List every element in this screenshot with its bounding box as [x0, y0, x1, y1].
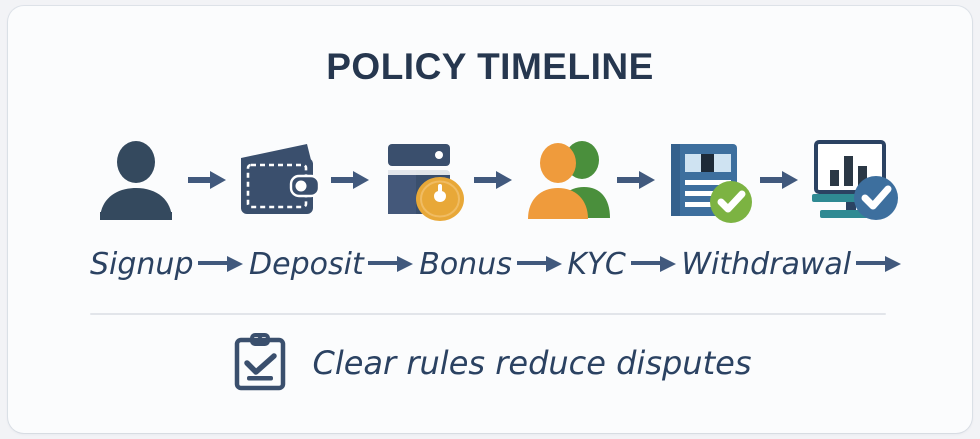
arrow-deposit-to-bonus — [331, 167, 371, 193]
arrow-right-icon — [368, 253, 414, 275]
gift-box-coin-icon — [376, 134, 468, 226]
arrow-right-icon — [198, 253, 244, 275]
laptop-chart-check-icon — [806, 134, 898, 226]
infographic-card: POLICY TIMELINE — [8, 6, 972, 433]
label-arrow-5 — [856, 253, 902, 275]
label-arrow-4 — [631, 253, 677, 275]
timeline-label-row: Signup Deposit Bonus KYC — [90, 240, 902, 288]
footer-text: Clear rules reduce disputes — [313, 344, 752, 382]
arrow-right-icon — [517, 253, 563, 275]
arrow-signup-to-deposit — [188, 167, 228, 193]
step-label-deposit: Deposit — [249, 247, 364, 282]
user-silhouette-icon — [90, 134, 182, 226]
arrow-right-icon — [188, 167, 228, 193]
arrow-withdrawal-to-report — [760, 167, 800, 193]
step-icon-report — [806, 134, 898, 226]
arrow-right-icon — [617, 167, 657, 193]
step-label-signup: Signup — [90, 247, 194, 282]
step-icon-bonus — [376, 134, 468, 226]
two-users-icon — [520, 134, 612, 226]
arrow-bonus-to-kyc — [474, 167, 514, 193]
arrow-right-icon — [331, 167, 371, 193]
arrow-right-icon — [474, 167, 514, 193]
step-label-kyc: KYC — [567, 247, 625, 282]
wallet-icon — [233, 134, 325, 226]
step-icon-deposit — [233, 134, 325, 226]
timeline-icon-row — [90, 134, 898, 226]
label-arrow-3 — [517, 253, 563, 275]
footer-note: Clear rules reduce disputes — [8, 332, 972, 394]
document-check-icon — [663, 134, 755, 226]
label-arrow-1 — [198, 253, 244, 275]
clipboard-check-icon — [229, 332, 291, 394]
step-label-withdrawal: Withdrawal — [681, 247, 851, 282]
step-icon-signup — [90, 134, 182, 226]
arrow-kyc-to-withdrawal — [617, 167, 657, 193]
step-icon-withdrawal — [663, 134, 755, 226]
arrow-right-icon — [856, 253, 902, 275]
step-label-bonus: Bonus — [419, 247, 512, 282]
page-title: POLICY TIMELINE — [8, 46, 972, 88]
section-divider — [90, 313, 886, 315]
label-arrow-2 — [368, 253, 414, 275]
arrow-right-icon — [631, 253, 677, 275]
arrow-right-icon — [760, 167, 800, 193]
step-icon-kyc — [520, 134, 612, 226]
